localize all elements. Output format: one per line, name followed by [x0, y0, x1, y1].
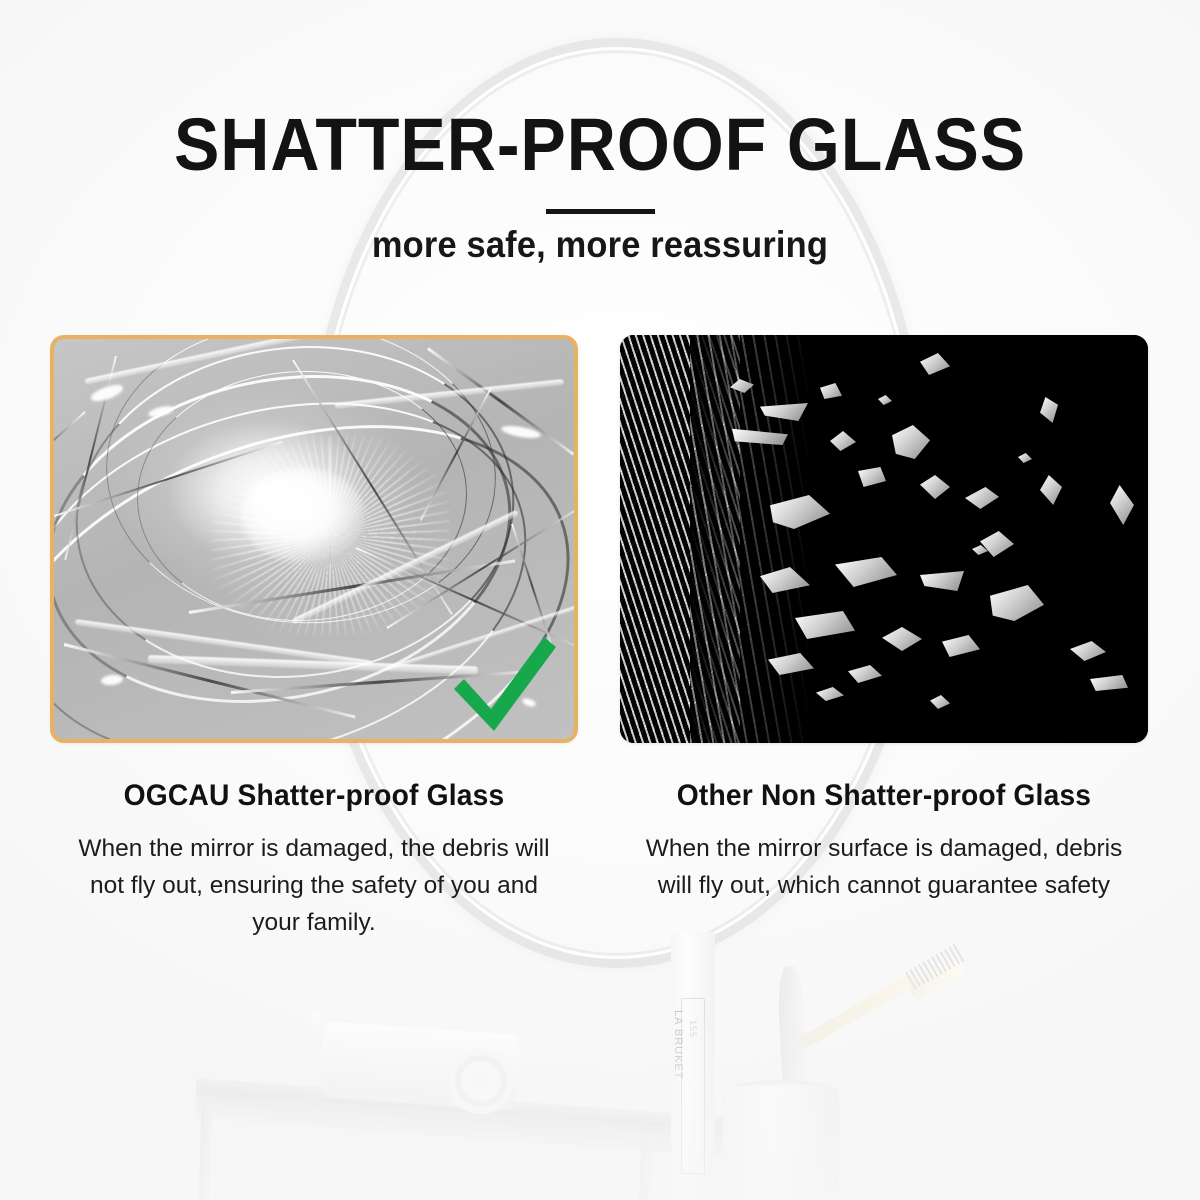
rolled-towel-end — [446, 1046, 516, 1116]
left-caption-body: When the mirror is damaged, the debris w… — [50, 830, 578, 942]
page-subtitle: more safe, more reassuring — [42, 222, 1158, 268]
toothpaste-tube-number-text: 155 — [688, 1020, 698, 1170]
toothpaste-tube-brand-text: LA BRUKET — [672, 1010, 684, 1160]
bottom-vignette — [0, 970, 1200, 1200]
toothbrush-cup — [723, 1086, 839, 1200]
towel-tie-strand-right — [330, 1005, 354, 1064]
check-mark-icon — [444, 627, 564, 737]
left-caption-heading: OGCAU Shatter-proof Glass — [66, 778, 562, 814]
non-shatter-proof-image-panel — [620, 335, 1148, 743]
toothbrush-bristles — [905, 942, 967, 989]
console-shelf-front — [195, 1092, 735, 1157]
console-shelf-leg-right — [639, 1138, 652, 1200]
right-caption-body: When the mirror surface is damaged, debr… — [620, 830, 1148, 904]
right-caption-block: Other Non Shatter-proof Glass When the m… — [620, 778, 1148, 904]
console-shelf-leg-left — [198, 1104, 212, 1200]
toothpaste-tube — [671, 932, 715, 1200]
toothbrush-handle — [797, 969, 925, 1050]
left-caption-block: OGCAU Shatter-proof Glass When the mirro… — [50, 778, 578, 942]
large-toothbrush-handle — [776, 965, 809, 1106]
right-caption-heading: Other Non Shatter-proof Glass — [636, 778, 1132, 814]
toothbrush-cup-rim — [723, 1080, 839, 1104]
page-title: SHATTER-PROOF GLASS — [48, 108, 1152, 182]
title-divider — [546, 209, 655, 214]
towel-tie-strand-left — [310, 1009, 339, 1073]
rolled-towel-body — [318, 1021, 523, 1111]
shattering-glass-mass-fade — [690, 335, 810, 743]
console-shelf-top — [195, 1078, 735, 1134]
toothbrush-head — [908, 959, 966, 1002]
shatter-proof-image-panel — [50, 335, 578, 743]
toothpaste-tube-label — [681, 998, 705, 1174]
infographic-canvas: LA BRUKET 155 SHATTER-PROOF GLASS more s… — [0, 0, 1200, 1200]
impact-point-highlight — [241, 467, 365, 563]
